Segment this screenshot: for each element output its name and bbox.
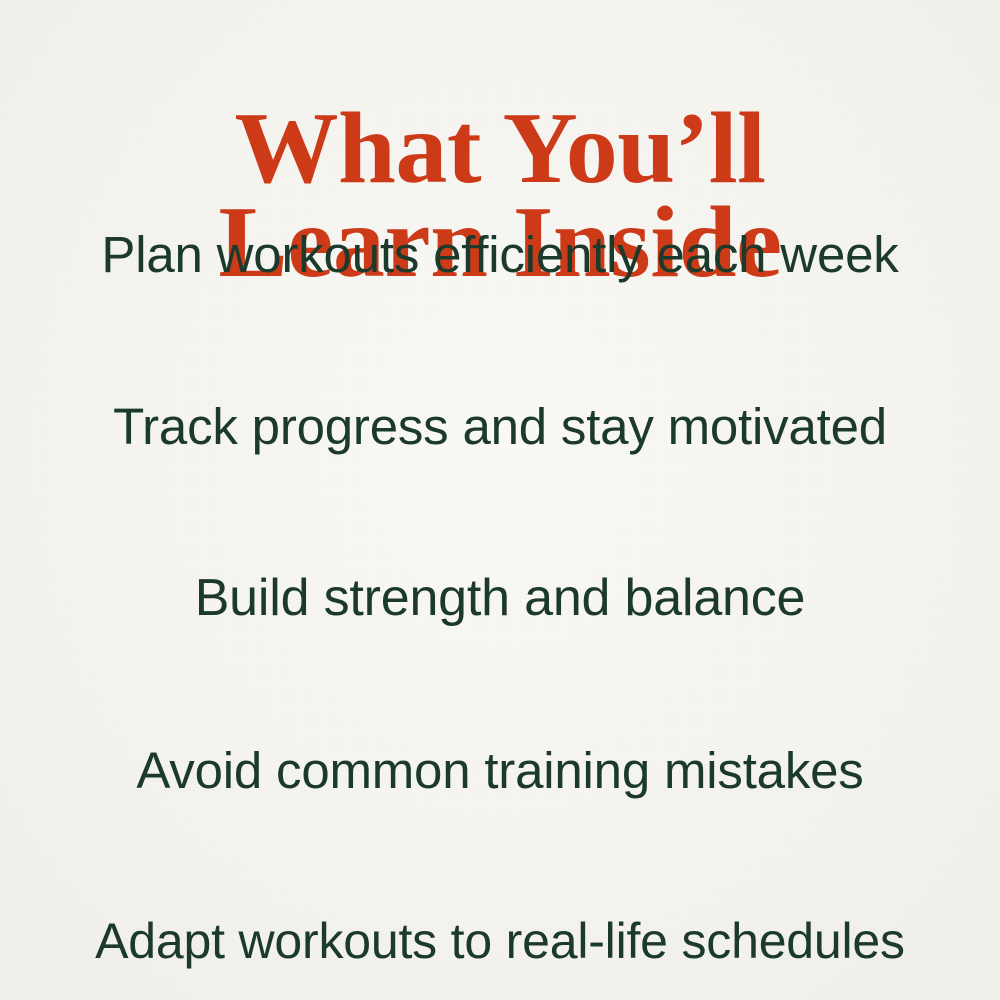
benefit-item-5: Adapt workouts to real-life schedules	[0, 915, 1000, 968]
benefit-item-2: Track progress and stay motivated	[0, 400, 1000, 454]
benefit-item-1: Plan workouts efficiently each week	[0, 228, 1000, 282]
benefit-item-4: Avoid common training mistakes	[0, 744, 1000, 798]
benefit-item-3: Build strength and balance	[0, 571, 1000, 626]
benefit-list: Plan workouts efficiently each week Trac…	[0, 228, 1000, 968]
promo-graphic: What You’ll Learn Inside Plan workouts e…	[0, 0, 1000, 1000]
page-title-line-1: What You’ll	[0, 102, 1000, 196]
